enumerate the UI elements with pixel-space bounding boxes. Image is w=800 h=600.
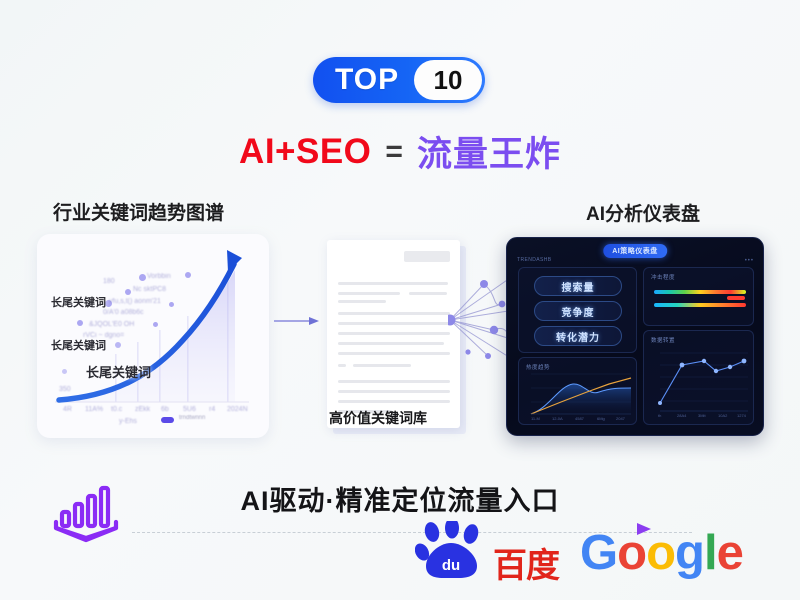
flow-arrow-right-icon <box>274 316 320 326</box>
dashboard-title-badge: AI策略仪表盘 <box>603 244 667 258</box>
section-heading-trend: 行业关键词趋势图谱 <box>53 198 224 225</box>
document-caption: 高价值关键词库 <box>329 408 479 428</box>
google-letter-g1: G <box>580 526 617 580</box>
metric-pill-competition[interactable]: 竞争度 <box>534 301 622 321</box>
impact-marker-tag <box>727 296 745 300</box>
google-letter-e: e <box>717 526 743 580</box>
metric-pill-search-volume[interactable]: 搜索量 <box>534 276 622 296</box>
keyword-trend-card: Vorbbin Nc sktPC8 vfu,s,t() aonm'21 0/A'… <box>37 234 269 438</box>
dashboard-area-chart-panel: 热度趋势 11-M 12-0A <box>518 357 637 425</box>
bar-funnel-icon <box>48 482 124 544</box>
baidu-wordmark: 百度 <box>493 538 559 587</box>
document-header-chip <box>404 251 450 262</box>
top-badge-number: 10 <box>414 60 482 100</box>
main-title: AI+SEO = 流量王炸 <box>0 126 800 177</box>
dashboard-menu-icon[interactable]: ••• <box>745 258 754 264</box>
metric-pill-conversion[interactable]: 转化潜力 <box>534 326 622 346</box>
trend-legend-label: trndtwnnn <box>179 415 205 421</box>
baidu-paw-icon: du <box>415 521 491 579</box>
trend-legend-swatch <box>161 417 174 423</box>
google-letter-g2: g <box>675 526 704 580</box>
google-letter-l: l <box>704 526 717 580</box>
play-triangle-icon <box>631 519 657 541</box>
dashboard-metrics-panel: 搜索量 竞争度 转化潜力 <box>518 267 637 353</box>
baidu-du-label: du <box>442 557 460 574</box>
search-engine-logos: du 百度 Google <box>415 521 755 583</box>
section-heading-dashboard: AI分析仪表盘 <box>586 199 700 226</box>
top-rank-badge: TOP 10 <box>313 57 485 103</box>
area-chart-title: 热度趋势 <box>526 363 550 371</box>
title-equals: = <box>385 135 403 169</box>
slide-canvas: TOP 10 AI+SEO = 流量王炸 行业关键词趋势图谱 AI分析仪表盘 <box>0 0 800 600</box>
google-wordmark: Google <box>580 529 743 578</box>
line-chart-svg <box>644 331 755 426</box>
trend-keyword-label-2: 长尾关键词 <box>51 337 106 353</box>
trend-chart: Vorbbin Nc sktPC8 vfu,s,t() aonm'21 0/A'… <box>37 234 269 438</box>
keyword-document-card <box>327 240 460 428</box>
ai-dashboard-panel: AI策略仪表盘 TRENDASHB ••• 搜索量 竞争度 转化潜力 热度趋势 <box>506 237 764 436</box>
line-chart-title: 数据转置 <box>651 336 675 344</box>
title-ai-seo: AI+SEO <box>239 132 371 172</box>
impact-gradient-bar-1 <box>654 290 746 294</box>
dashboard-impact-panel: 冲击程度 <box>643 267 754 326</box>
trend-keyword-label-3: 长尾关键词 <box>86 362 151 381</box>
trend-keyword-label-1: 长尾关键词 <box>51 294 106 310</box>
title-traffic: 流量王炸 <box>417 126 561 177</box>
dashboard-line-chart-panel: 数据转置 th 28A4 3Mit 10 <box>643 330 754 425</box>
impact-gradient-bar-2 <box>654 303 746 307</box>
impact-panel-title: 冲击程度 <box>651 273 675 281</box>
top-badge-label: TOP <box>335 65 399 95</box>
dashboard-brand-label: TRENDASHB <box>517 257 551 263</box>
